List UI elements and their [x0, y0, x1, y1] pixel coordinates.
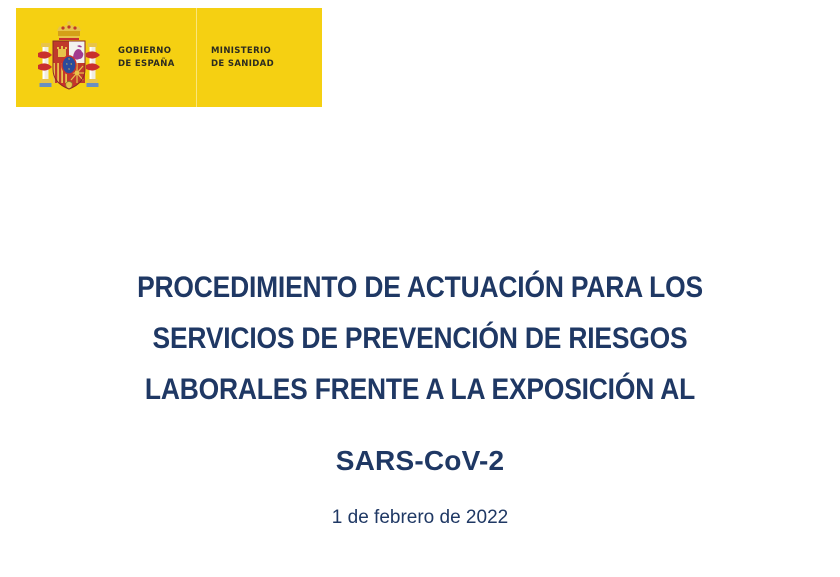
- logo-ministerio-line-2: DE SANIDAD: [211, 58, 274, 71]
- logo-text-gobierno: GOBIERNO DE ESPAÑA: [118, 45, 186, 70]
- logo-text-ministerio: MINISTERIO DE SANIDAD: [211, 45, 274, 70]
- title-subject: SARS-CoV-2: [0, 435, 840, 486]
- gobierno-logo-banner: GOBIERNO DE ESPAÑA MINISTERIO DE SANIDAD: [16, 8, 322, 107]
- logo-divider: [196, 8, 197, 107]
- logo-ministerio-line-1: MINISTERIO: [211, 45, 274, 58]
- logo-gobierno-line-1: GOBIERNO: [118, 45, 186, 58]
- title-line-2: SERVICIOS DE PREVENCIÓN DE RIESGOS: [50, 313, 789, 364]
- title-line-3: LABORALES FRENTE A LA EXPOSICIÓN AL: [50, 364, 789, 415]
- spanish-coat-of-arms-icon: [30, 17, 108, 99]
- page-title: PROCEDIMIENTO DE ACTUACIÓN PARA LOS SERV…: [0, 262, 840, 486]
- document-date: 1 de febrero de 2022: [0, 507, 840, 529]
- logo-gobierno-line-2: DE ESPAÑA: [118, 58, 186, 71]
- title-line-1: PROCEDIMIENTO DE ACTUACIÓN PARA LOS: [50, 262, 789, 313]
